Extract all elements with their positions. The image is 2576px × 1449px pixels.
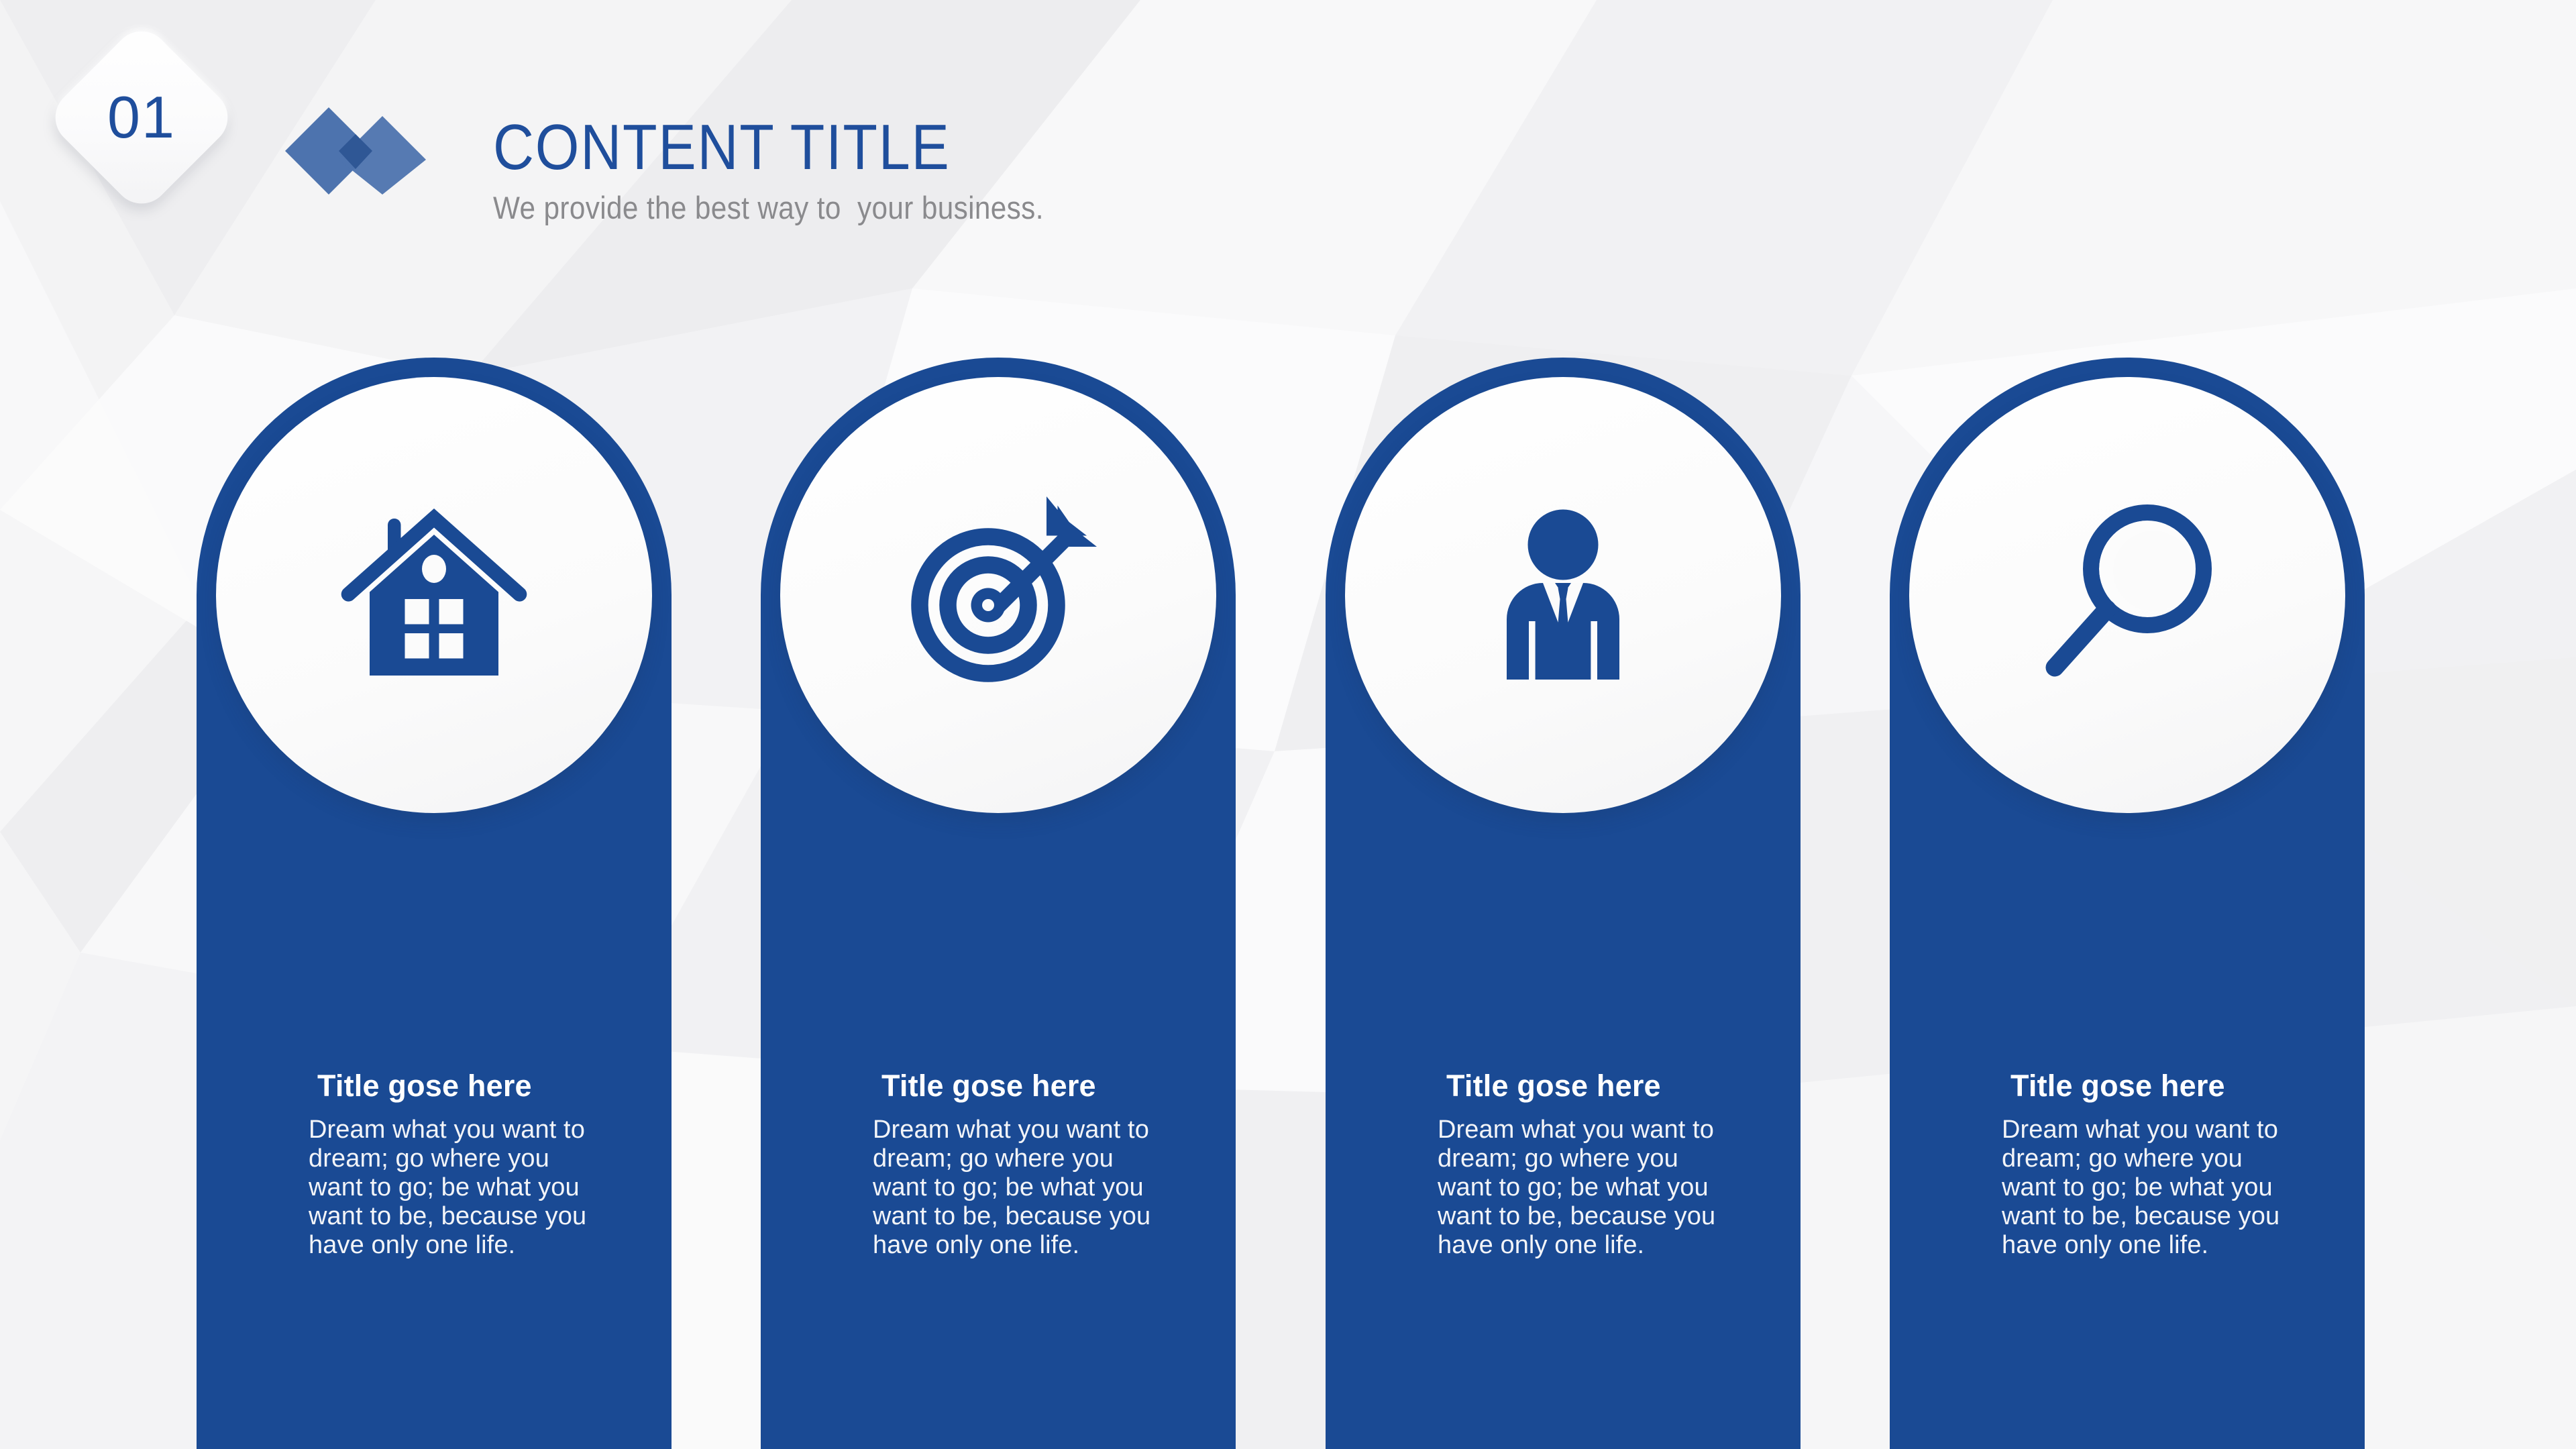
target-arrow-icon [898, 494, 1099, 696]
house-icon [333, 494, 535, 696]
card-body-2: Dream what you want to dream; go where y… [873, 1116, 1161, 1260]
card-icon-circle-1 [216, 377, 652, 813]
card-title-1: Title gose here [317, 1069, 532, 1104]
card-title-3: Title gose here [1446, 1069, 1661, 1104]
card-icon-circle-2 [780, 377, 1216, 813]
card-icon-circle-3 [1345, 377, 1781, 813]
businessman-icon [1462, 494, 1664, 696]
feature-card-4[interactable]: Title gose here Dream what you want to d… [1890, 358, 2365, 1449]
card-body-4: Dream what you want to dream; go where y… [2002, 1116, 2290, 1260]
card-body-3: Dream what you want to dream; go where y… [1438, 1116, 1726, 1260]
card-title-2: Title gose here [881, 1069, 1096, 1104]
feature-card-1[interactable]: Title gose here Dream what you want to d… [197, 358, 672, 1449]
magnifier-icon [2027, 494, 2228, 696]
feature-card-2[interactable]: Title gose here Dream what you want to d… [761, 358, 1236, 1449]
card-body-1: Dream what you want to dream; go where y… [309, 1116, 597, 1260]
feature-card-3[interactable]: Title gose here Dream what you want to d… [1326, 358, 1801, 1449]
card-title-4: Title gose here [2010, 1069, 2225, 1104]
presentation-slide: 01 CONTENT TITLE We provide the best way… [0, 0, 2576, 1449]
feature-card-row: Title gose here Dream what you want to d… [0, 0, 2576, 1449]
card-icon-circle-4 [1909, 377, 2345, 813]
